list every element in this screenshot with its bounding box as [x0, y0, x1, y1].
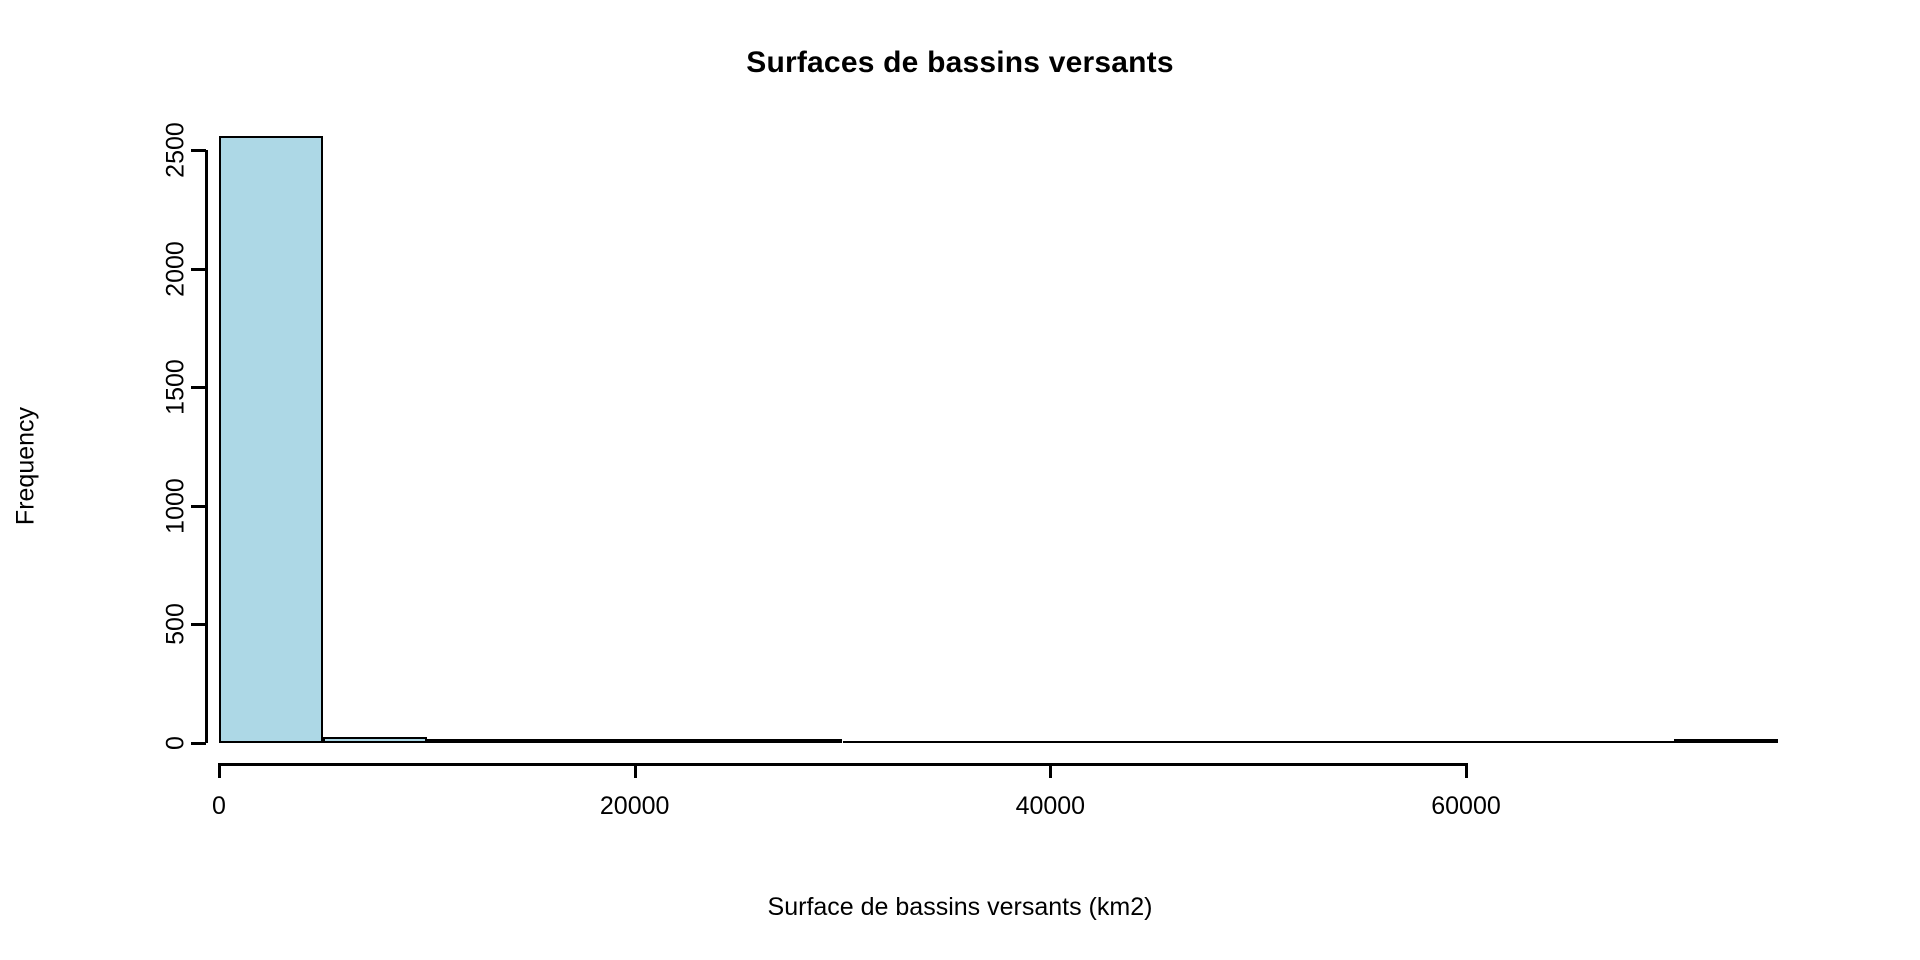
- histogram-bar: [219, 136, 323, 743]
- histogram-bar: [635, 739, 739, 743]
- histogram-bars: [219, 130, 1810, 743]
- plot-data-area: [219, 130, 1810, 743]
- x-axis-tick: [1049, 763, 1052, 778]
- histogram-plot: Surfaces de bassins versants Frequency 0…: [0, 0, 1920, 960]
- histogram-bar: [427, 739, 531, 743]
- histogram-bar: [1362, 741, 1466, 743]
- x-axis-tick-label: 40000: [1016, 794, 1086, 819]
- x-axis-tick: [1465, 763, 1468, 778]
- y-axis-tick: [191, 386, 206, 389]
- x-axis-tick: [218, 763, 221, 778]
- x-axis-tick: [634, 763, 637, 778]
- x-axis-tick-label: 0: [212, 794, 226, 819]
- x-axis-tick-label: 20000: [600, 794, 670, 819]
- y-axis-line: [205, 150, 208, 743]
- y-axis-tick-label: 500: [164, 604, 189, 646]
- x-axis-tick-label: 60000: [1431, 794, 1501, 819]
- y-axis-tick: [191, 505, 206, 508]
- y-axis-tick: [191, 623, 206, 626]
- histogram-bar: [1050, 741, 1154, 743]
- y-axis-tick: [191, 149, 206, 152]
- y-axis-tick: [191, 268, 206, 271]
- histogram-bar: [531, 739, 635, 743]
- chart-title: Surfaces de bassins versants: [0, 48, 1920, 78]
- y-axis-title: Frequency: [14, 407, 39, 525]
- y-axis-tick: [191, 742, 206, 745]
- histogram-bar: [1258, 741, 1362, 743]
- histogram-bar: [843, 741, 947, 743]
- y-axis-tick-label: 1000: [164, 478, 189, 534]
- histogram-bar: [1154, 741, 1258, 743]
- histogram-bar: [1570, 741, 1674, 743]
- x-axis-title: Surface de bassins versants (km2): [0, 895, 1920, 920]
- histogram-bar: [323, 737, 427, 743]
- y-axis-title-container: Frequency: [0, 0, 52, 960]
- y-axis-tick-label: 2500: [164, 122, 189, 178]
- histogram-bar: [739, 739, 843, 743]
- y-axis-tick-label: 1500: [164, 359, 189, 415]
- histogram-bar: [1674, 739, 1778, 743]
- histogram-bar: [946, 741, 1050, 743]
- y-axis-tick-label: 2000: [164, 241, 189, 297]
- y-axis-tick-label: 0: [164, 736, 189, 750]
- x-axis-line: [219, 763, 1466, 766]
- histogram-bar: [1466, 741, 1570, 743]
